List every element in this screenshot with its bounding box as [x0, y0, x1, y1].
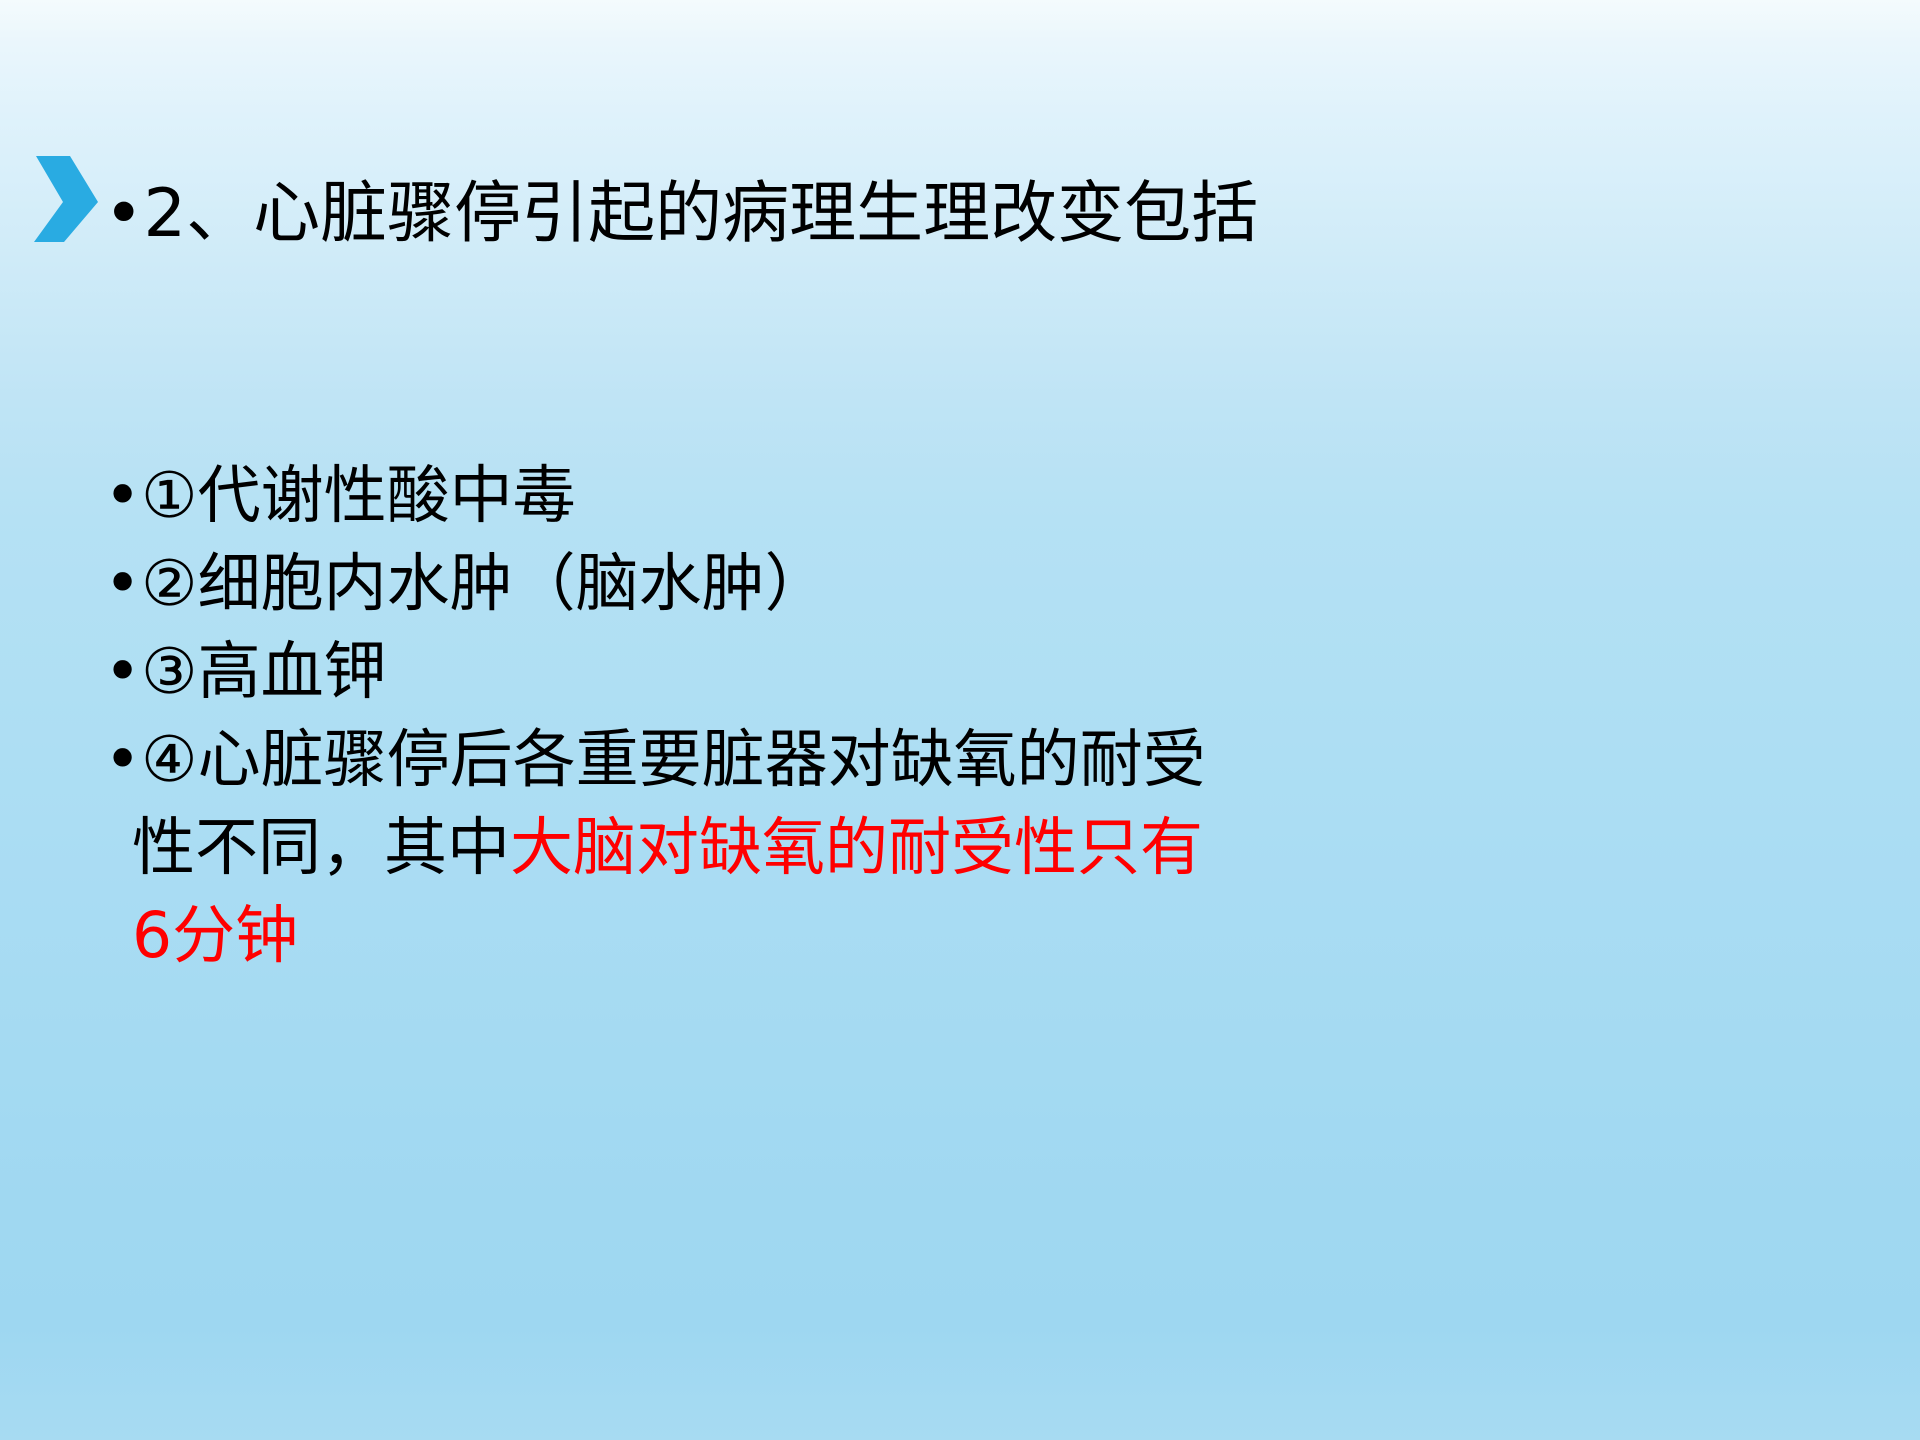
list-item: •④心脏骤停后各重要脏器对缺氧的耐受 性不同，其中大脑对缺氧的耐受性只有 6分钟	[104, 716, 1904, 980]
title-text: 2、心脏骤停引起的病理生理改变包括	[144, 174, 1259, 252]
slide-canvas: •2、心脏骤停引起的病理生理改变包括 •①代谢性酸中毒 •②细胞内水肿（脑水肿）…	[0, 0, 1920, 1440]
slide-title-line: •2、心脏骤停引起的病理生理改变包括	[104, 168, 1894, 258]
bullet-list: •①代谢性酸中毒 •②细胞内水肿（脑水肿） •③高血钾 •④心脏骤停后各重要脏器…	[104, 452, 1904, 980]
list-item: •①代谢性酸中毒	[104, 452, 1904, 540]
list-item: •③高血钾	[104, 628, 1904, 716]
list-item-bullet: •	[104, 635, 141, 708]
list-item: •②细胞内水肿（脑水肿）	[104, 540, 1904, 628]
list-item-bullet: •	[104, 723, 141, 796]
title-bullet: •	[104, 174, 144, 252]
slide-title: •2、心脏骤停引起的病理生理改变包括	[104, 168, 1894, 258]
highlighted-text: 大脑对缺氧的耐受性只有	[510, 811, 1203, 884]
list-item-text: ①代谢性酸中毒	[141, 459, 575, 532]
list-item-bullet: •	[104, 459, 141, 532]
list-item-wrapped-line: 性不同，其中大脑对缺氧的耐受性只有	[104, 804, 1904, 892]
list-item-text: 性不同，其中	[132, 811, 510, 884]
list-item-text: ③高血钾	[141, 635, 386, 708]
list-item-text: ②细胞内水肿（脑水肿）	[141, 547, 827, 620]
list-item-text: ④心脏骤停后各重要脏器对缺氧的耐受	[141, 723, 1205, 796]
list-item-bullet: •	[104, 547, 141, 620]
chevron-right-icon	[33, 116, 101, 242]
highlighted-text: 6分钟	[104, 892, 1904, 980]
